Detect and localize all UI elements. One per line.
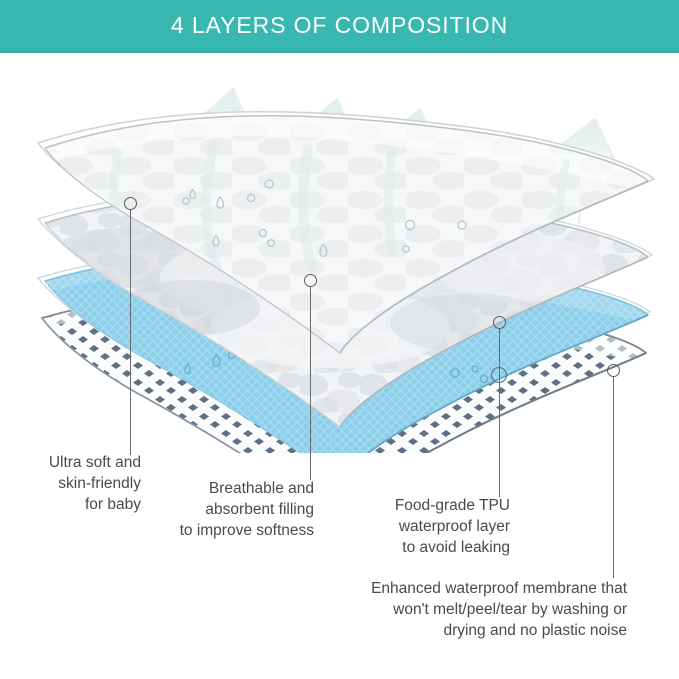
callout-caption-3: Food-grade TPU waterproof layer to avoid… — [360, 495, 510, 558]
callout-marker-2[interactable] — [304, 274, 317, 287]
infographic-page: 4 LAYERS OF COMPOSITION — [0, 0, 679, 679]
callout-caption-1: Ultra soft and skin-friendly for baby — [0, 452, 141, 515]
callout-marker-1[interactable] — [124, 197, 137, 210]
callout-leader-line-2 — [310, 287, 311, 480]
callout-leader-line-4 — [613, 377, 614, 578]
callout-marker-4[interactable] — [607, 364, 620, 377]
page-title: 4 LAYERS OF COMPOSITION — [171, 12, 508, 39]
callout-caption-4: Enhanced waterproof membrane that won't … — [300, 578, 627, 641]
callout-leader-line-1 — [130, 210, 131, 455]
callout-caption-2: Breathable and absorbent filling to impr… — [155, 478, 314, 541]
layer-illustration — [0, 53, 679, 453]
header-bar: 4 LAYERS OF COMPOSITION — [0, 0, 679, 53]
callout-marker-3[interactable] — [493, 316, 506, 329]
callout-leader-line-3 — [499, 329, 500, 497]
